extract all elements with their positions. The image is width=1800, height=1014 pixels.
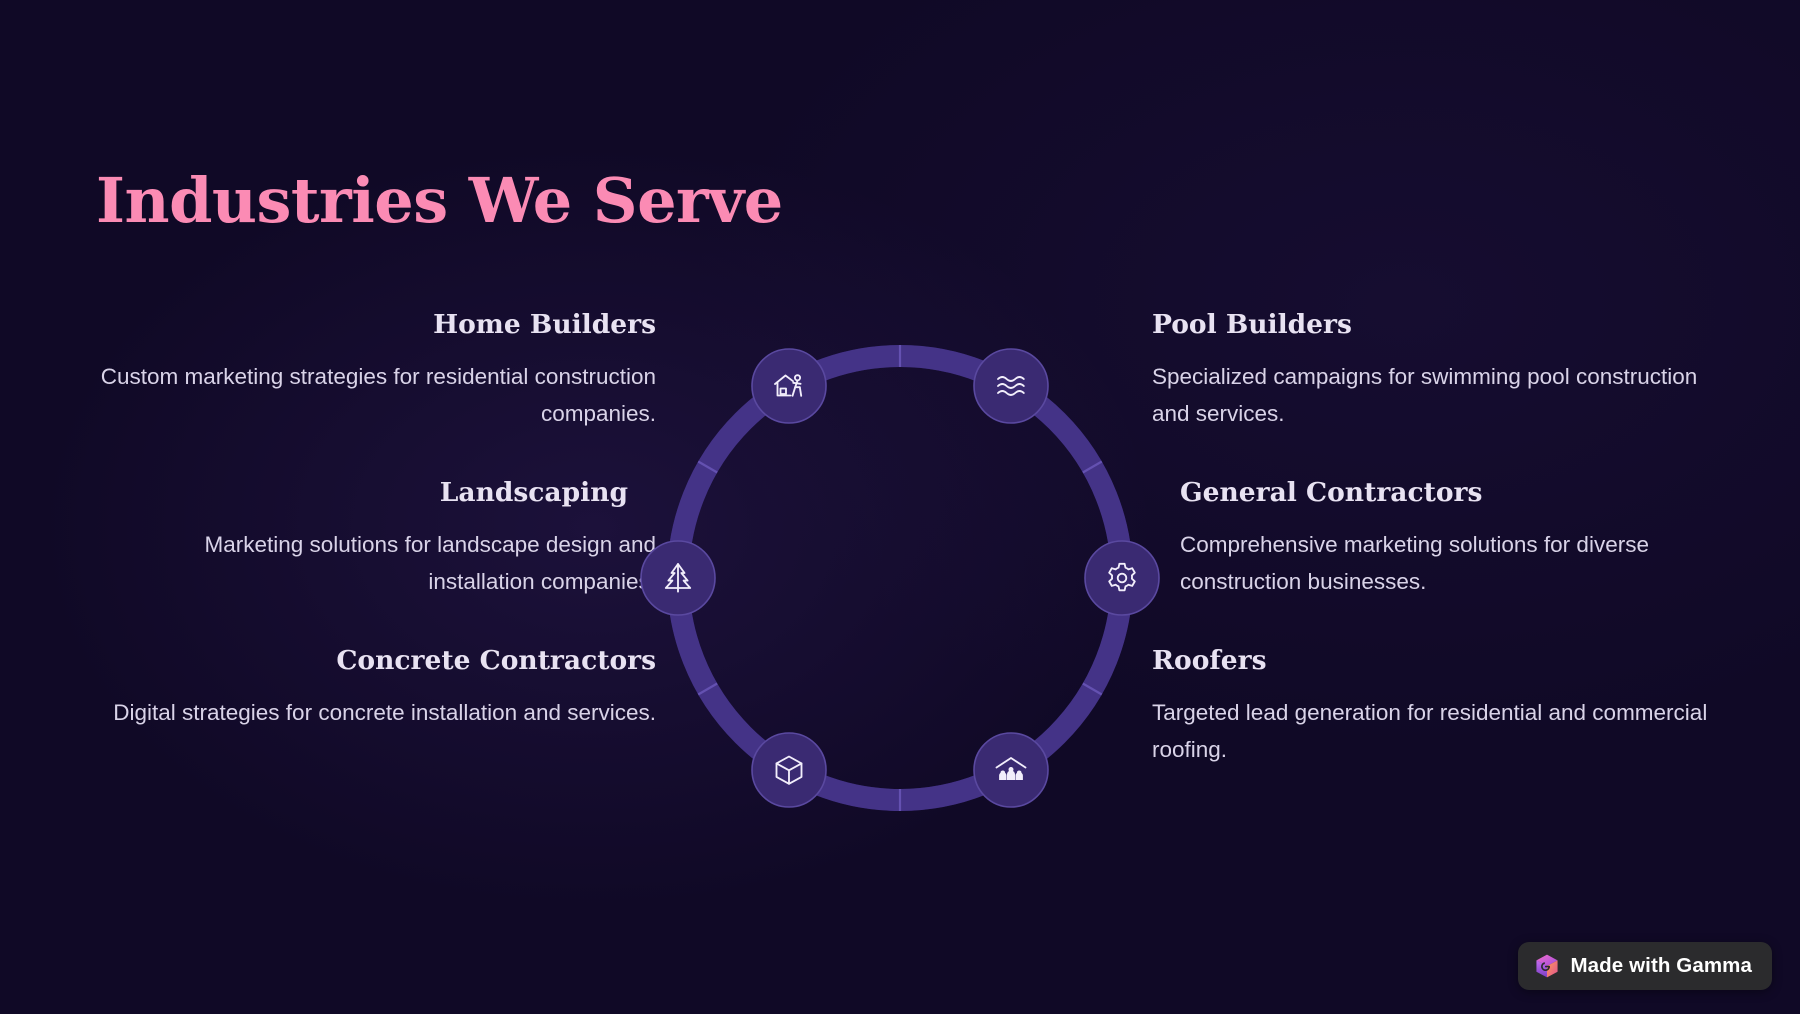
gamma-badge-label: Made with Gamma: [1571, 954, 1753, 978]
gamma-cube-logo: [1534, 953, 1560, 979]
industry-title: Pool Builders: [1152, 308, 1712, 341]
industry-description: Marketing solutions for landscape design…: [96, 527, 656, 600]
industry-title: Home Builders: [96, 308, 656, 341]
diagram-node-pool-builders[interactable]: [974, 349, 1048, 423]
diagram-node-concrete-contractors[interactable]: [752, 733, 826, 807]
left-industry-column: Home Builders Custom marketing strategie…: [96, 308, 656, 776]
diagram-node-general-contractors[interactable]: [1085, 541, 1159, 615]
made-with-gamma-badge[interactable]: Made with Gamma: [1518, 942, 1773, 990]
diagram-node-landscaping[interactable]: [641, 541, 715, 615]
industry-item-pool-builders: Pool Builders Specialized campaigns for …: [1152, 308, 1712, 432]
node-circle: [974, 349, 1048, 423]
industry-description: Specialized campaigns for swimming pool …: [1152, 359, 1712, 432]
right-industry-column: Pool Builders Specialized campaigns for …: [1152, 308, 1712, 812]
page-title: Industries We Serve: [96, 168, 783, 235]
slide-canvas: Industries We Serve Home Builders Custom…: [0, 0, 1800, 1014]
industry-description: Digital strategies for concrete installa…: [96, 695, 656, 731]
industry-item-roofers: Roofers Targeted lead generation for res…: [1152, 644, 1712, 768]
industry-title: Landscaping: [96, 476, 656, 509]
industry-description: Comprehensive marketing solutions for di…: [1152, 527, 1712, 600]
industry-item-landscaping: Landscaping Marketing solutions for land…: [96, 476, 656, 600]
industry-circle-diagram: [640, 318, 1160, 838]
industry-title: Concrete Contractors: [96, 644, 656, 677]
industry-item-general-contractors: General Contractors Comprehensive market…: [1152, 476, 1712, 600]
industry-title: Roofers: [1152, 644, 1712, 677]
node-circle: [1085, 541, 1159, 615]
industry-item-concrete-contractors: Concrete Contractors Digital strategies …: [96, 644, 656, 732]
diagram-node-home-builders[interactable]: [752, 349, 826, 423]
industry-description: Custom marketing strategies for resident…: [96, 359, 656, 432]
industry-title: General Contractors: [1152, 476, 1712, 509]
industry-item-home-builders: Home Builders Custom marketing strategie…: [96, 308, 656, 432]
ring-band-highlight: [678, 356, 1122, 800]
industry-description: Targeted lead generation for residential…: [1152, 695, 1712, 768]
diagram-node-roofers[interactable]: [974, 733, 1048, 807]
node-circle: [752, 349, 826, 423]
